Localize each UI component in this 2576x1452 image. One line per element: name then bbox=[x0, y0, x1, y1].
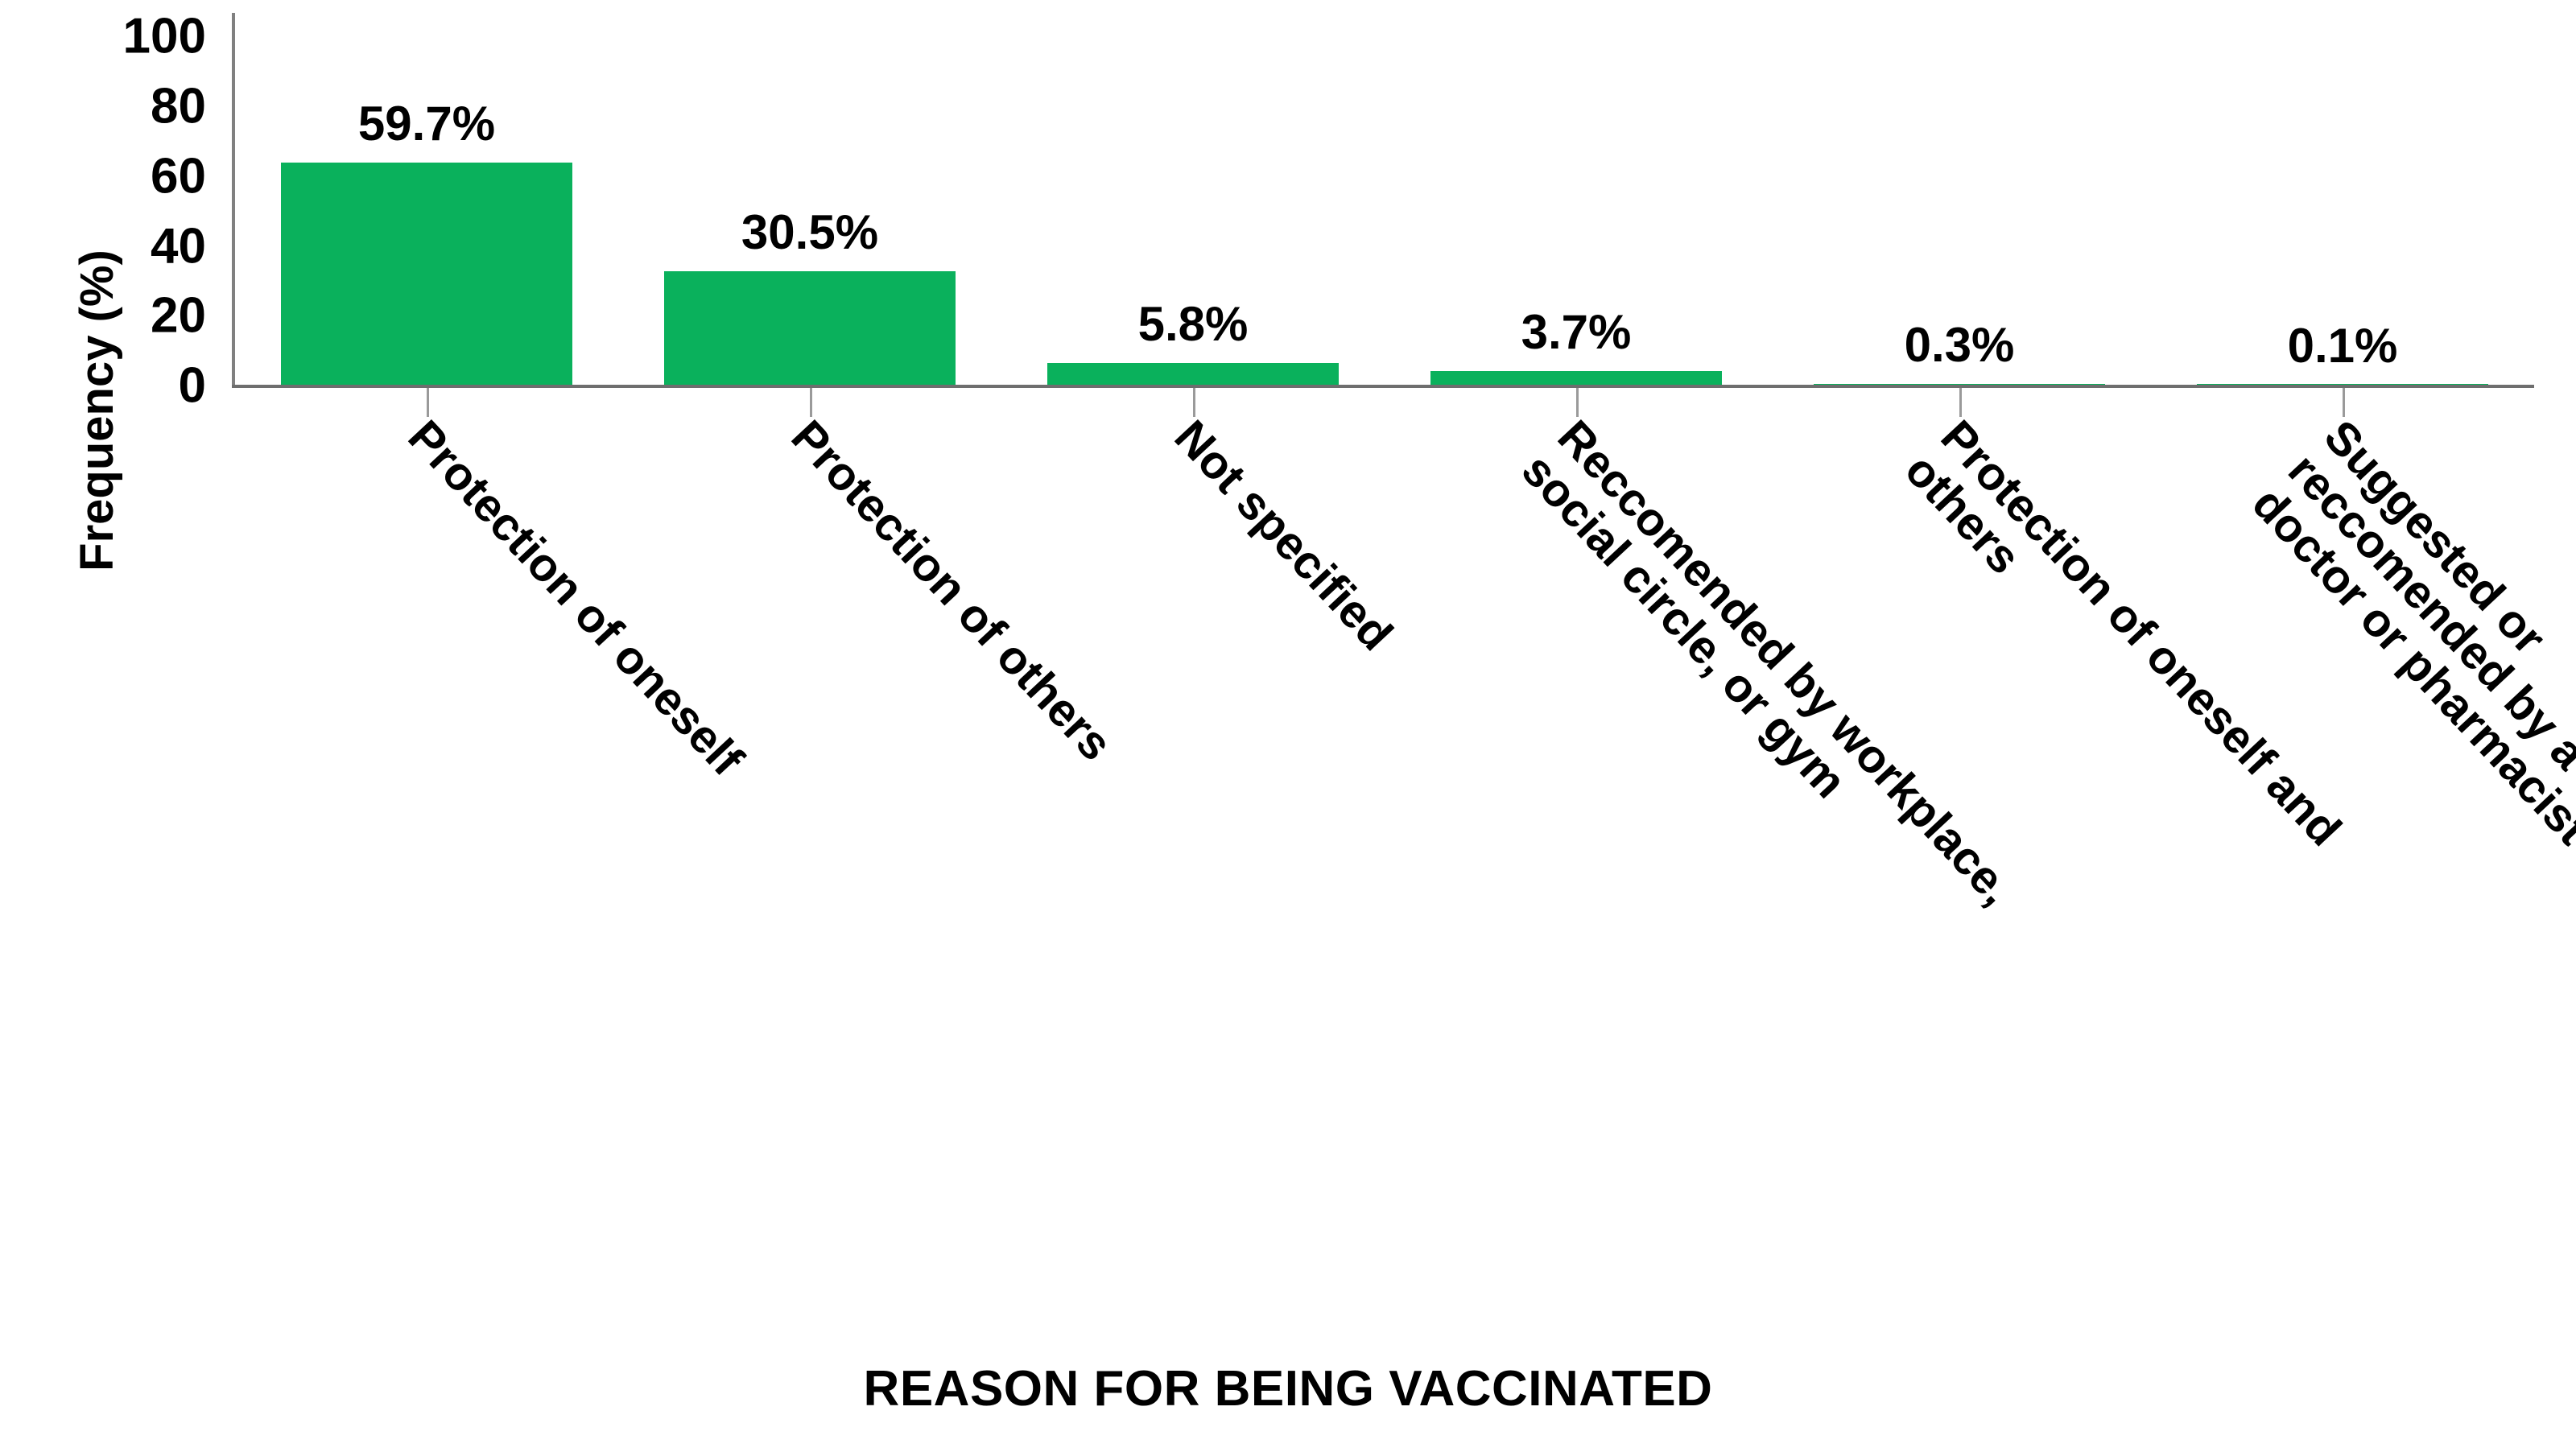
bar-value-label: 59.7% bbox=[358, 96, 495, 151]
bar-slot: 3.7% bbox=[1385, 13, 1768, 385]
bar-slot: 0.1% bbox=[2151, 13, 2534, 385]
x-axis-tick-mark bbox=[427, 388, 429, 417]
bar[interactable] bbox=[1047, 363, 1339, 385]
bar[interactable] bbox=[664, 271, 956, 385]
bar-value-label: 5.8% bbox=[1138, 296, 1249, 352]
x-axis-line bbox=[232, 385, 2534, 388]
bar[interactable] bbox=[2197, 384, 2488, 385]
x-axis-category-label: Protection of oneself bbox=[398, 412, 751, 785]
bar-slot: 5.8% bbox=[1001, 13, 1385, 385]
y-tick-label-40: 40 bbox=[151, 218, 206, 275]
bar-value-label: 0.1% bbox=[2288, 318, 2398, 373]
bar-value-label: 0.3% bbox=[1905, 317, 2015, 373]
y-tick-label-0: 0 bbox=[179, 357, 206, 415]
y-tick-label-100: 100 bbox=[123, 8, 206, 65]
x-axis-tick-mark bbox=[1959, 388, 1962, 417]
y-tick-label-80: 80 bbox=[151, 78, 206, 135]
bar[interactable] bbox=[1814, 384, 2105, 385]
x-axis-category-label: Not specified bbox=[1165, 412, 1401, 660]
x-axis-tick-mark bbox=[1193, 388, 1195, 417]
bar[interactable] bbox=[281, 163, 572, 385]
bar-chart-figure: Frequency (%) 100 80 60 40 20 0 59.7%30.… bbox=[0, 0, 2576, 1452]
bar-slot: 59.7% bbox=[235, 13, 618, 385]
y-axis-tick-labels: 100 80 60 40 20 0 bbox=[0, 0, 219, 1452]
x-axis-category-label: Protection of others bbox=[782, 412, 1120, 770]
y-tick-label-20: 20 bbox=[151, 287, 206, 344]
bar-value-label: 3.7% bbox=[1521, 304, 1632, 360]
x-axis-tick-mark bbox=[810, 388, 812, 417]
x-axis-tick-mark bbox=[2343, 388, 2345, 417]
y-tick-label-60: 60 bbox=[151, 148, 206, 205]
bar[interactable] bbox=[1430, 371, 1722, 385]
x-axis-tick-mark bbox=[1576, 388, 1579, 417]
plot-area: 59.7%30.5%5.8%3.7%0.3%0.1% bbox=[235, 13, 2534, 385]
bar-slot: 0.3% bbox=[1768, 13, 2151, 385]
bar-value-label: 30.5% bbox=[741, 204, 878, 260]
bar-slot: 30.5% bbox=[618, 13, 1001, 385]
x-axis-title: REASON FOR BEING VACCINATED bbox=[0, 1360, 2576, 1417]
